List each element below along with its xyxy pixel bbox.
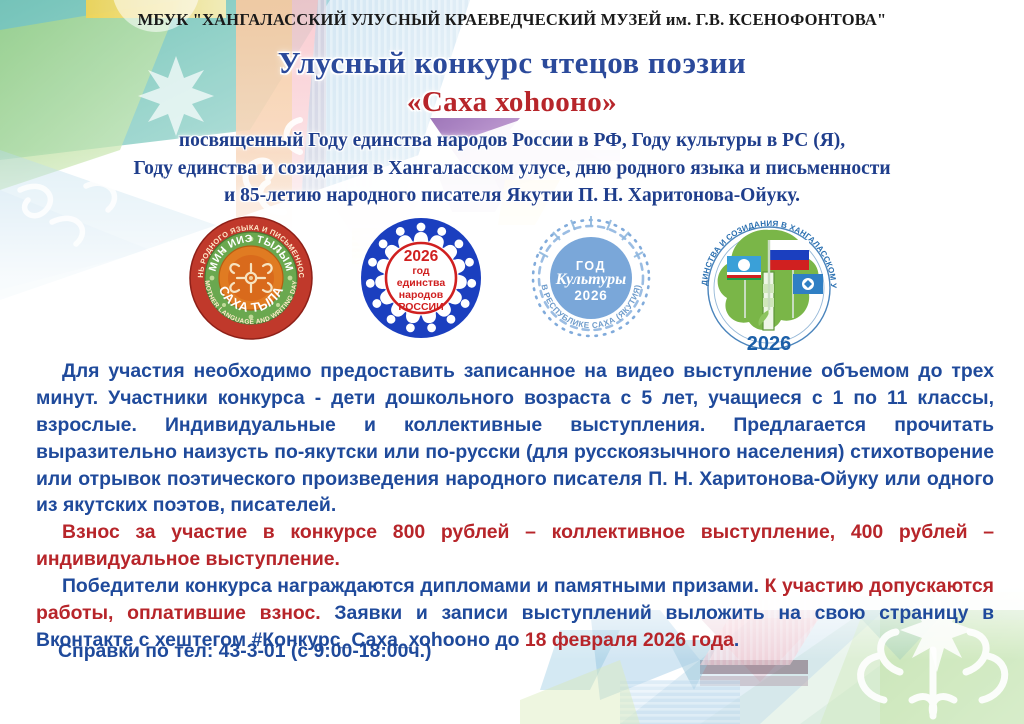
emblem3-year: 2026 xyxy=(574,288,607,303)
emblem3-line2: Культуры xyxy=(555,271,626,288)
khangalassky-flag xyxy=(793,274,823,294)
contact-info: Справки по тел: 43-3-01 (с 9:00-18:00ч.) xyxy=(58,640,431,663)
body-paragraph-3-deadline: 18 февраля 2026 года xyxy=(525,629,734,651)
body-paragraph-2: Взнос за участие в конкурсе 800 рублей –… xyxy=(36,519,994,573)
mother-language-day-emblem: ДЕНЬ РОДНОГО ЯЗЫКА И ПИСЬМЕННОСТИ MOTHER… xyxy=(187,214,315,342)
dedication-line-1: посвященный Году единства народов России… xyxy=(20,127,1004,155)
body-text-block: Для участия необходимо предоставить запи… xyxy=(36,358,994,654)
poster-subtitle: «Саха хоһооно» xyxy=(0,86,1024,119)
body-paragraph-1: Для участия необходимо предоставить запи… xyxy=(36,358,994,519)
dedication-line-2: Году единства и созидания в Хангаласском… xyxy=(20,155,1004,183)
dedication-line-3: и 85-летию народного писателя Якутии П. … xyxy=(20,182,1004,210)
unity-of-peoples-of-russia-emblem: 2026 год единства народов РОССИИ xyxy=(357,214,485,342)
emblem2-line1: год xyxy=(412,265,430,277)
emblem2-year: 2026 xyxy=(404,248,439,265)
poster-title: Улусный конкурс чтецов поэзии xyxy=(0,45,1024,81)
dedication-text: посвященный Году единства народов России… xyxy=(20,127,1004,210)
emblem2-line2: единства xyxy=(397,277,446,289)
emblem2-line4: РОССИИ xyxy=(398,301,443,313)
emblem2-line3: народов xyxy=(399,289,444,301)
organization-name: МБУК "ХАНГАЛАССКИЙ УЛУСНЫЙ КРАЕВЕДЧЕСКИЙ… xyxy=(0,10,1024,30)
emblem4-year: 2026 xyxy=(747,333,792,354)
body-paragraph-3-segment-1: Победители конкурса награждаются диплома… xyxy=(62,575,765,597)
sakha-flag xyxy=(727,256,761,280)
year-of-culture-sakha-emblem: ГОД Культуры 2026 В РЕСПУБЛИКЕ САХА (ЯКУ… xyxy=(527,214,655,342)
title-block: Улусный конкурс чтецов поэзии «Саха хоһо… xyxy=(0,45,1024,119)
emblem-row: ДЕНЬ РОДНОГО ЯЗЫКА И ПИСЬМЕННОСТИ MOTHER… xyxy=(0,214,1024,356)
unity-and-creation-khangalassky-emblem: 2026 ГОД ЕДИНСТВА И СОЗИДАНИЯ В ХАНГАЛАС… xyxy=(697,214,837,354)
poster-canvas: МБУК "ХАНГАЛАССКИЙ УЛУСНЫЙ КРАЕВЕДЧЕСКИЙ… xyxy=(0,0,1024,724)
body-paragraph-3-segment-5: . xyxy=(734,629,739,651)
